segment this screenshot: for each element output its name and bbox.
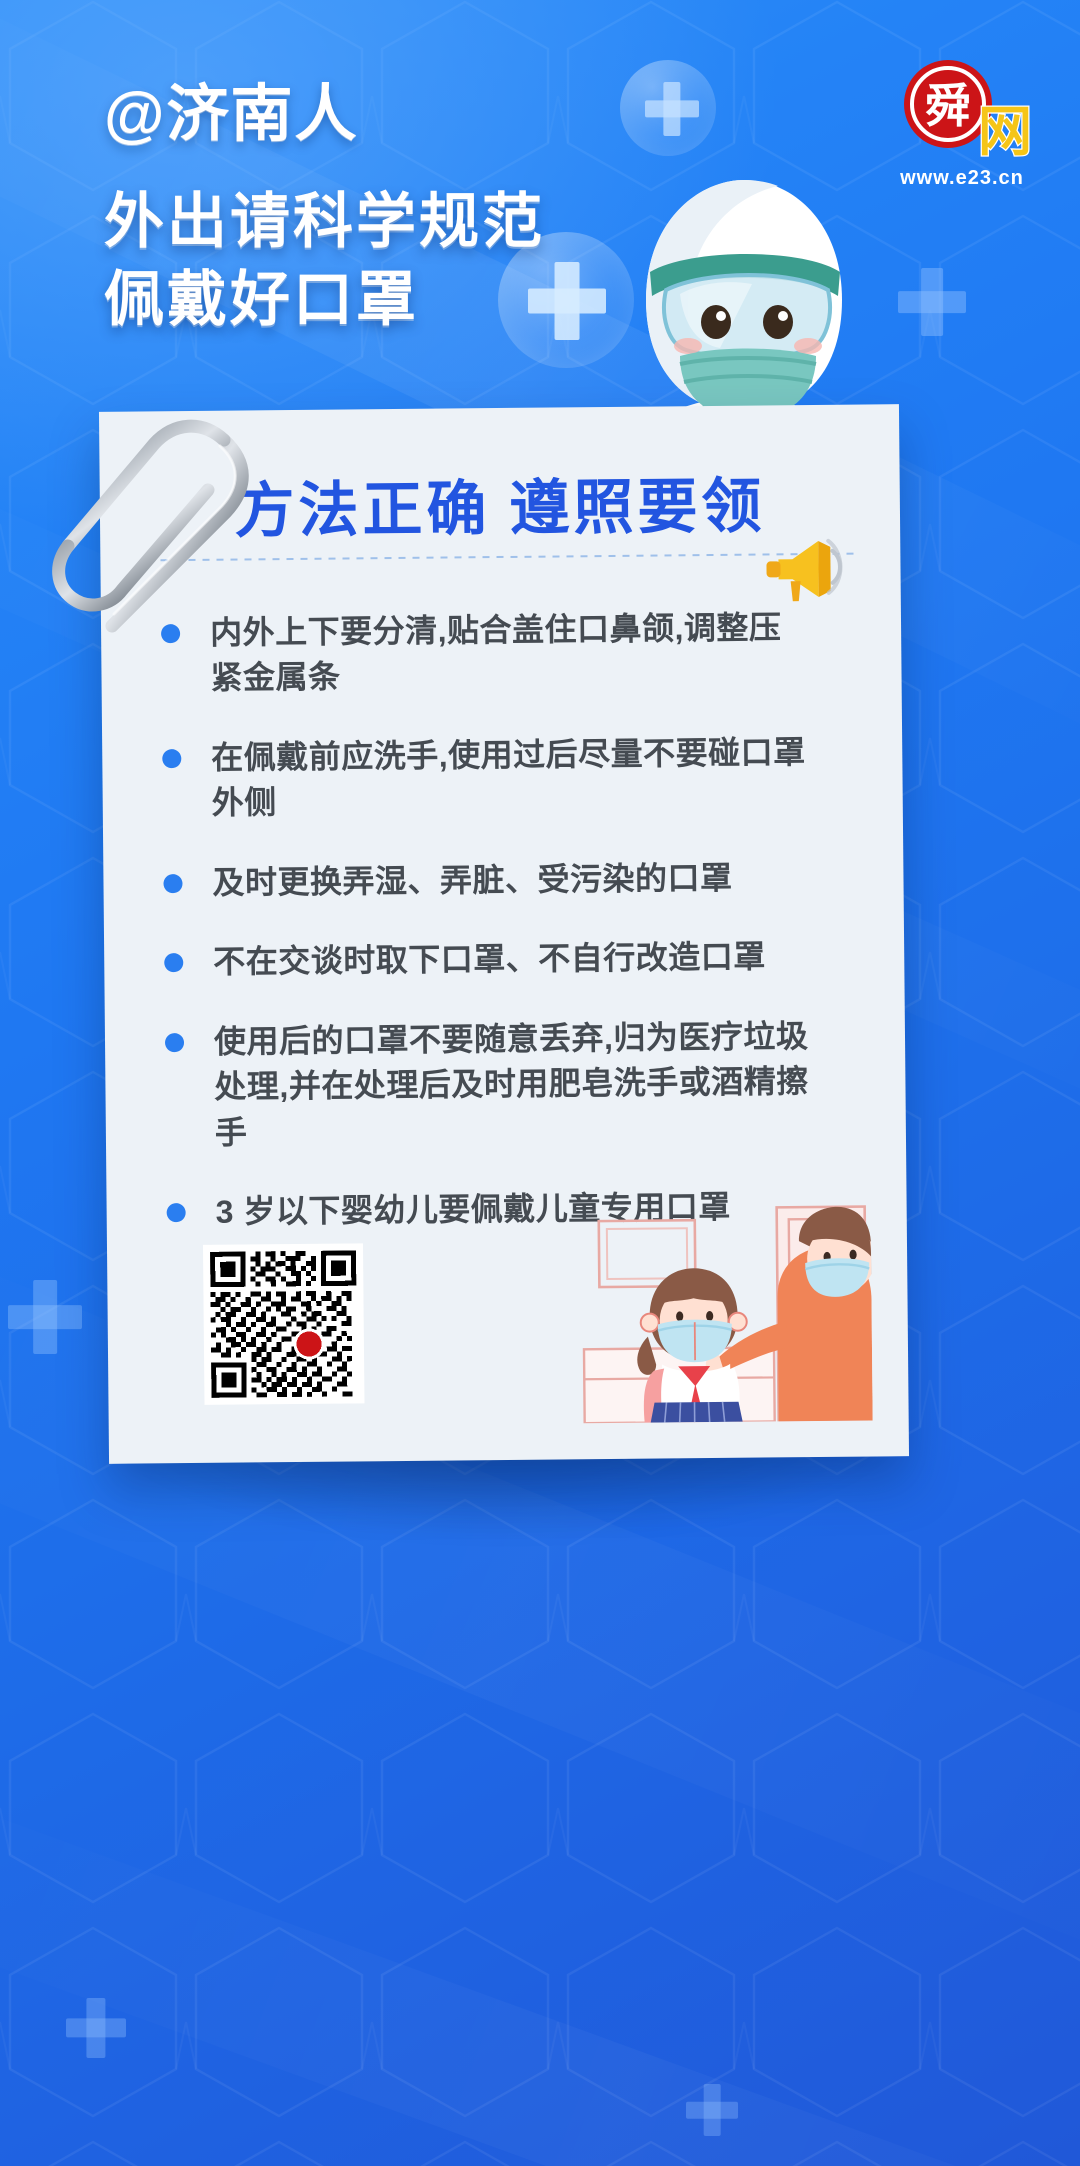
bullet-dot-icon [162, 749, 181, 768]
plus-icon-bottom-right [686, 2084, 738, 2136]
list-item: 及时更换弄湿、弄脏、受污染的口罩 [155, 854, 861, 906]
list-item-text: 及时更换弄湿、弄脏、受污染的口罩 [212, 856, 732, 906]
poster-header: @济南人 外出请科学规范 佩戴好口罩 [104, 82, 744, 339]
list-item: 在佩戴前应洗手,使用过后尽量不要碰口罩外侧 [154, 729, 861, 827]
bullet-dot-icon [167, 1203, 186, 1222]
list-item-text: 在佩戴前应洗手,使用过后尽量不要碰口罩外侧 [211, 730, 812, 827]
svg-text:网: 网 [978, 102, 1032, 162]
svg-text:www.e23.cn: www.e23.cn [899, 167, 1024, 189]
svg-text:舜: 舜 [925, 81, 971, 132]
bullet-dot-icon [163, 874, 182, 893]
paperclip-icon [48, 400, 278, 650]
handle-text: @济南人 [104, 82, 744, 149]
poster-root: @济南人 外出请科学规范 佩戴好口罩 舜 网 www.e23.cn [0, 0, 1080, 2166]
list-item-text: 不在交谈时取下口罩、不自行改造口罩 [213, 935, 766, 986]
headline-line-1: 外出请科学规范 [104, 183, 744, 261]
plus-icon-left [8, 1280, 82, 1354]
bullet-dot-icon [164, 953, 183, 972]
mother-child-mask-illustration [541, 1200, 873, 1423]
bullet-dot-icon [165, 1033, 184, 1052]
headline-line-2: 佩戴好口罩 [104, 261, 744, 339]
megaphone-icon [752, 525, 849, 610]
list-item-text: 使用后的口罩不要随意丢弃,归为医疗垃圾处理,并在处理后及时用肥皂洗手或酒精擦手 [214, 1014, 815, 1156]
qr-code[interactable] [203, 1243, 365, 1405]
list-item: 不在交谈时取下口罩、不自行改造口罩 [156, 934, 862, 986]
list-item: 使用后的口罩不要随意丢弃,归为医疗垃圾处理,并在处理后及时用肥皂洗手或酒精擦手 [157, 1013, 864, 1156]
list-item-text: 内外上下要分清,贴合盖住口鼻颌,调整压紧金属条 [210, 605, 811, 702]
instruction-list: 内外上下要分清,贴合盖住口鼻颌,调整压紧金属条 在佩戴前应洗手,使用过后尽量不要… [153, 605, 865, 1236]
e23-logo[interactable]: 舜 网 www.e23.cn [874, 48, 1054, 198]
headline-block: 外出请科学规范 佩戴好口罩 [104, 183, 744, 339]
plus-icon-bottom-left [66, 1998, 126, 2058]
